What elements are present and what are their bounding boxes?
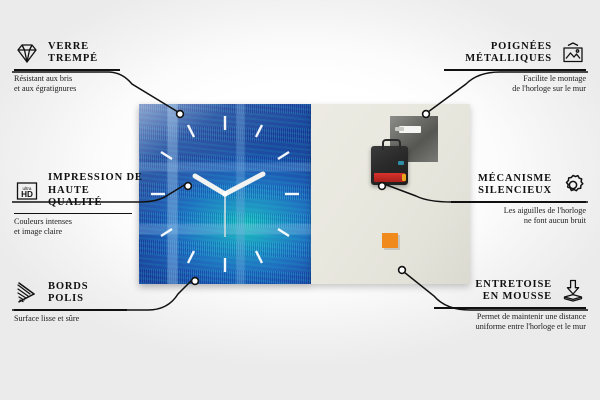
gear-icon bbox=[560, 172, 586, 198]
callout-title: MÉCANISME SILENCIEUX bbox=[478, 173, 552, 198]
callout-title: POIGNÉES MÉTALLIQUES bbox=[465, 41, 552, 66]
callout-mecanisme-silencieux: MÉCANISME SILENCIEUX Les aiguilles de l'… bbox=[451, 172, 586, 226]
quartz-movement bbox=[371, 146, 408, 185]
clock-back-panel bbox=[311, 104, 470, 284]
diamond-icon bbox=[14, 40, 40, 66]
callout-impression-haute-qualite: ultra HD IMPRESSION DE HAUTE QUALITÉ Cou… bbox=[14, 172, 146, 237]
callout-title: IMPRESSION DE HAUTE QUALITÉ bbox=[48, 172, 146, 210]
callout-subtitle-2: uniforme entre l'horloge et le mur bbox=[434, 322, 586, 332]
callout-rule bbox=[451, 201, 586, 203]
movement-hook bbox=[382, 139, 401, 150]
clock-dial bbox=[139, 104, 311, 284]
callout-subtitle-2: et aux égratignures bbox=[14, 84, 138, 94]
callout-poignees-metalliques: POIGNÉES MÉTALLIQUES Facilite le montage… bbox=[444, 40, 586, 94]
callout-rule bbox=[14, 69, 120, 71]
callout-title: BORDS POLIS bbox=[48, 281, 88, 306]
callout-title: VERRE TREMPÉ bbox=[48, 41, 98, 66]
hanger-keyhole-secondary bbox=[395, 127, 404, 131]
callout-subtitle-1: Couleurs intenses bbox=[14, 217, 146, 227]
polished-edge-icon bbox=[14, 280, 40, 306]
foam-spacer bbox=[382, 233, 398, 248]
callout-subtitle-1: Surface lisse et sûre bbox=[14, 314, 138, 324]
callout-title: ENTRETOISE EN MOUSSE bbox=[475, 279, 552, 304]
picture-frame-hanger-icon bbox=[560, 40, 586, 66]
callout-header: VERRE TREMPÉ bbox=[14, 40, 138, 66]
callout-header: ENTRETOISE EN MOUSSE bbox=[434, 278, 586, 304]
svg-text:HD: HD bbox=[21, 190, 33, 199]
callout-header: MÉCANISME SILENCIEUX bbox=[451, 172, 586, 198]
callout-subtitle-1: Facilite le montage bbox=[444, 74, 586, 84]
callout-entretoise-en-mousse: ENTRETOISE EN MOUSSE Permet de maintenir… bbox=[434, 278, 586, 332]
callout-subtitle-1: Les aiguilles de l'horloge bbox=[451, 206, 586, 216]
callout-header: ultra HD IMPRESSION DE HAUTE QUALITÉ bbox=[14, 172, 146, 210]
callout-rule bbox=[434, 307, 586, 309]
callout-subtitle-2: et image claire bbox=[14, 227, 146, 237]
product-image bbox=[139, 104, 470, 284]
infographic-canvas: VERRE TREMPÉ Résistant aux bris et aux é… bbox=[0, 0, 600, 400]
callout-subtitle-2: ne font aucun bruit bbox=[451, 216, 586, 226]
callout-subtitle-2: de l'horloge sur le mur bbox=[444, 84, 586, 94]
callout-rule bbox=[444, 69, 586, 71]
callout-subtitle-1: Résistant aux bris bbox=[14, 74, 138, 84]
callout-verre-trempe: VERRE TREMPÉ Résistant aux bris et aux é… bbox=[14, 40, 138, 94]
foam-spacer-arrow-icon bbox=[560, 278, 586, 304]
movement-detail bbox=[398, 161, 404, 165]
callout-header: POIGNÉES MÉTALLIQUES bbox=[444, 40, 586, 66]
callout-bords-polis: BORDS POLIS Surface lisse et sûre bbox=[14, 280, 138, 324]
clock-front-glass bbox=[139, 104, 311, 284]
callout-rule bbox=[14, 309, 127, 311]
battery bbox=[374, 173, 405, 182]
ultra-hd-icon: ultra HD bbox=[14, 178, 40, 204]
callout-header: BORDS POLIS bbox=[14, 280, 138, 306]
callout-subtitle-1: Permet de maintenir une distance bbox=[434, 312, 586, 322]
callout-rule bbox=[14, 213, 132, 215]
